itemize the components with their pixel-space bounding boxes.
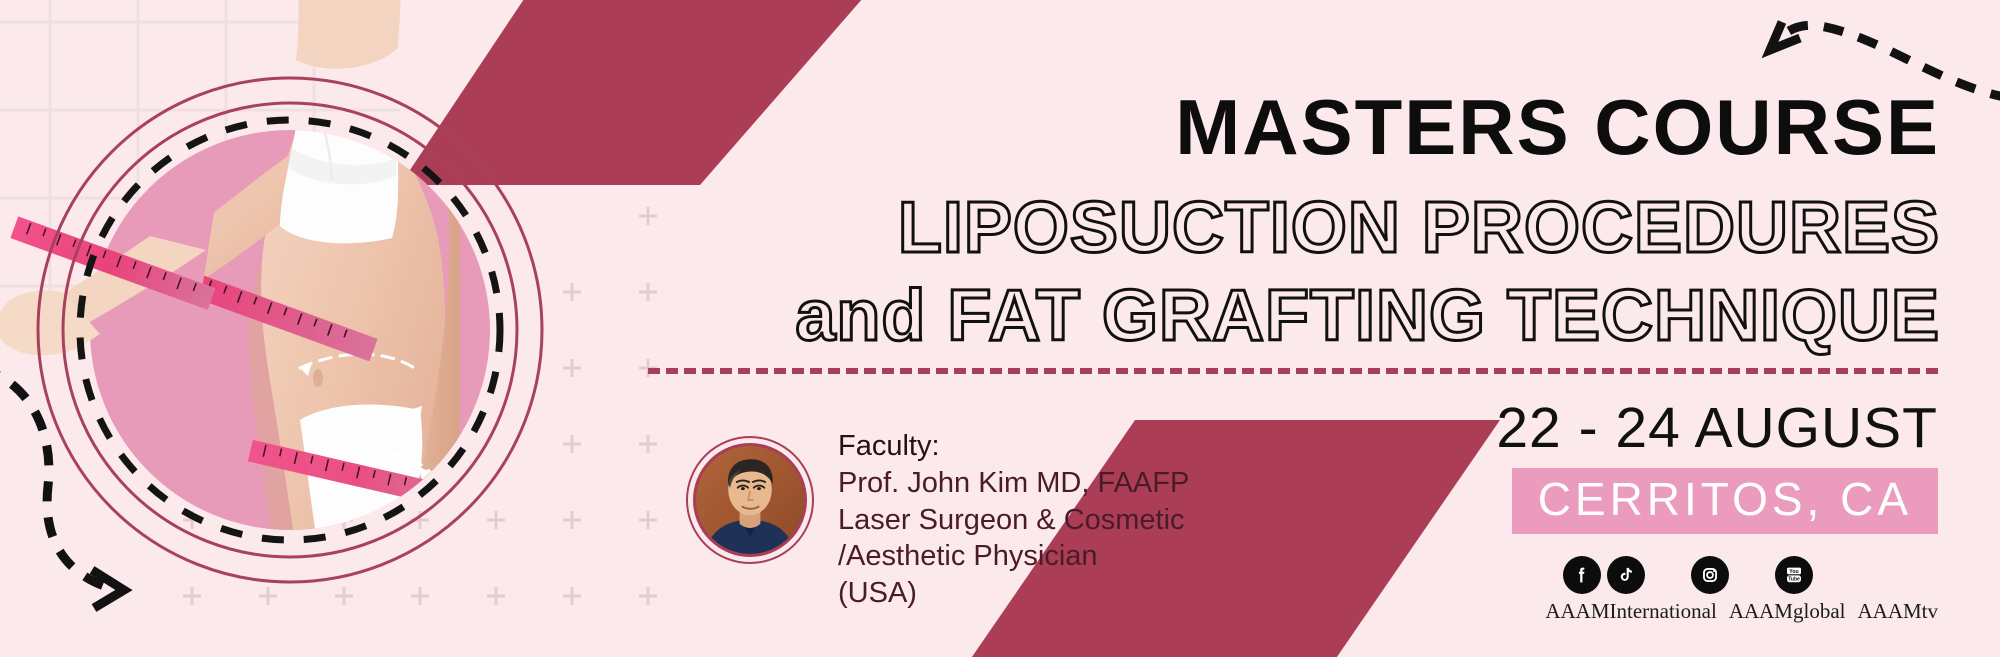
- location-badge: CERRITOS, CA: [1512, 468, 1938, 534]
- svg-text:Tube: Tube: [1789, 577, 1801, 583]
- avatar-ring-inner: [693, 443, 807, 557]
- faculty-block: Faculty: Prof. John Kim MD, FAAFP Laser …: [686, 428, 1189, 612]
- tiktok-icon[interactable]: [1607, 556, 1645, 594]
- promo-banner: MASTERS COURSE LIPOSUCTION PROCEDURES an…: [0, 0, 2000, 657]
- subtitle-line-2: and FAT GRAFTING TECHNIQUE: [795, 280, 1940, 352]
- social-icon-row: You Tube: [1563, 556, 1813, 594]
- event-date: 22 - 24 AUGUST: [1496, 395, 1938, 461]
- faculty-label: Faculty:: [838, 428, 1189, 465]
- handle-facebook[interactable]: AAAMInternational: [1545, 599, 1716, 624]
- page-title: MASTERS COURSE: [1175, 88, 1940, 166]
- faculty-country: (USA): [838, 575, 1189, 612]
- subtitle-line-1: LIPOSUCTION PROCEDURES: [898, 192, 1940, 264]
- svg-text:You: You: [1790, 569, 1799, 575]
- handle-instagram[interactable]: AAAMglobal: [1729, 599, 1846, 624]
- social-handle-row: AAAMInternational AAAMglobal AAAMtv: [1545, 599, 1938, 624]
- faculty-name: Prof. John Kim MD, FAAFP: [838, 465, 1189, 502]
- faculty-role-line-1: Laser Surgeon & Cosmetic: [838, 502, 1189, 539]
- faculty-role-line-2: /Aesthetic Physician: [838, 538, 1189, 575]
- faculty-portrait-image: [696, 446, 804, 554]
- youtube-icon[interactable]: You Tube: [1775, 556, 1813, 594]
- facebook-icon[interactable]: [1563, 556, 1601, 594]
- avatar: [686, 436, 814, 564]
- instagram-icon[interactable]: [1691, 556, 1729, 594]
- dashed-divider: [648, 368, 1938, 374]
- social-links: You Tube AAAMInternational AAAMglobal AA…: [1545, 556, 1938, 624]
- handle-youtube[interactable]: AAAMtv: [1857, 599, 1938, 624]
- faculty-details: Faculty: Prof. John Kim MD, FAAFP Laser …: [838, 428, 1189, 612]
